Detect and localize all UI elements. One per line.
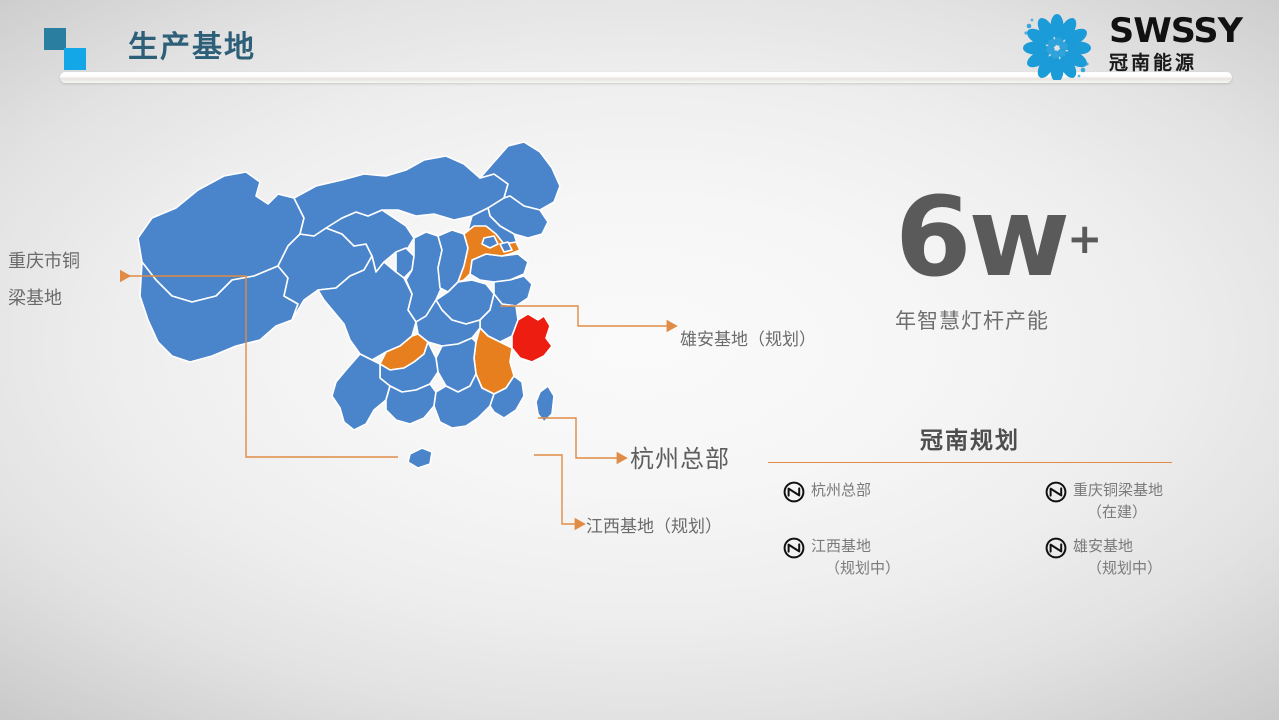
capacity-stat-value: 6w (895, 173, 1067, 301)
callout-chongqing-line2: 梁基地 (8, 280, 80, 317)
legend-item-line2: （规划中） (811, 557, 900, 579)
wave-circle-icon (782, 536, 806, 560)
logo-brand-name: SWSSY (1109, 12, 1264, 50)
legend-item-line1: 杭州总部 (811, 481, 871, 499)
province-guangxi (386, 384, 436, 424)
company-logo: SWSSY 冠南能源 (1009, 10, 1259, 82)
callout-label-jiangxi: 江西基地（规划） (586, 513, 722, 541)
wave-circle-icon (1044, 480, 1068, 504)
logo-subtitle: 冠南能源 (1109, 51, 1259, 77)
province-taiwan (536, 386, 554, 422)
legend-panel: 冠南规划 杭州总部 (768, 424, 1172, 579)
legend-item-label: 重庆铜梁基地 （在建） (1073, 479, 1163, 523)
legend-item-chongqing-tongliang[interactable]: 重庆铜梁基地 （在建） (970, 479, 1172, 523)
province-zhejiang-highlight (512, 314, 552, 362)
legend-item-line1: 重庆铜梁基地 (1073, 481, 1163, 499)
page-title: 生产基地 (128, 28, 256, 68)
province-hainan (408, 448, 432, 468)
capacity-stat-caption: 年智慧灯杆产能 (895, 307, 1225, 337)
decor-square-light-icon (64, 48, 86, 70)
legend-item-label: 雄安基地 （规划中） (1073, 535, 1162, 579)
legend-title: 冠南规划 (768, 424, 1172, 456)
callout-label-chongqing: 重庆市铜 梁基地 (8, 243, 80, 317)
legend-item-line2: （规划中） (1073, 557, 1162, 579)
water-splash-logo-icon (1009, 12, 1105, 80)
legend-item-label: 杭州总部 (811, 479, 871, 501)
wave-circle-icon (782, 480, 806, 504)
legend-item-jiangxi[interactable]: 江西基地 （规划中） (768, 535, 970, 579)
china-provinces-map (128, 130, 608, 570)
legend-items-grid: 杭州总部 重庆铜梁基地 （在建） (768, 479, 1172, 579)
legend-item-line1: 雄安基地 (1073, 537, 1133, 555)
decor-square-dark-icon (44, 28, 66, 50)
legend-item-hangzhou[interactable]: 杭州总部 (768, 479, 970, 523)
callout-label-hangzhou: 杭州总部 (630, 445, 730, 473)
capacity-stat-number: 6w+ (895, 185, 1225, 291)
capacity-stat-block: 6w+ 年智慧灯杆产能 (895, 185, 1225, 337)
slide-canvas: 生产基地 (0, 0, 1279, 720)
legend-item-xiongan[interactable]: 雄安基地 （规划中） (970, 535, 1172, 579)
legend-item-label: 江西基地 （规划中） (811, 535, 900, 579)
callout-chongqing-line1: 重庆市铜 (8, 243, 80, 280)
wave-circle-icon (1044, 536, 1068, 560)
legend-item-line1: 江西基地 (811, 537, 871, 555)
province-hunan (436, 338, 476, 392)
header-decor-squares (44, 28, 100, 74)
logo-text-block: SWSSY 冠南能源 (1109, 12, 1259, 77)
legend-divider (768, 462, 1172, 463)
legend-item-line2: （在建） (1073, 501, 1163, 523)
callout-label-xiongan: 雄安基地（规划） (680, 326, 816, 354)
capacity-stat-plus: + (1067, 214, 1102, 263)
